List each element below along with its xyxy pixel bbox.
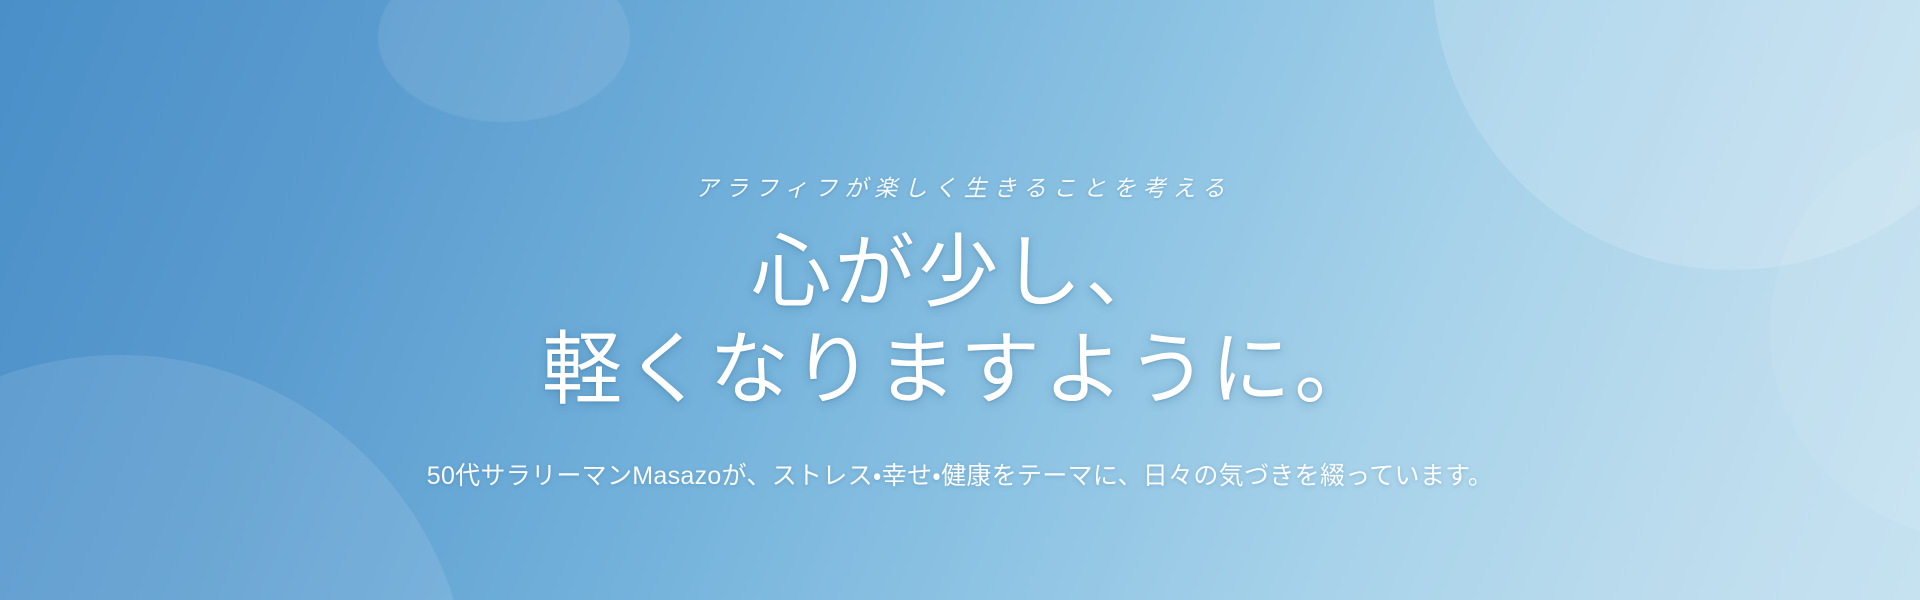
- hero-content: アラフィフが楽しく生きることを考える 心が少し、 軽くなりますように。 50代サ…: [0, 0, 1920, 600]
- hero-banner: アラフィフが楽しく生きることを考える 心が少し、 軽くなりますように。 50代サ…: [0, 0, 1920, 600]
- page-title-line-1: 心が少し、: [542, 226, 1378, 324]
- hero-subtitle: 50代サラリーマンMasazoが、ストレス・幸せ・健康をテーマに、日々の気づきを…: [427, 458, 1493, 496]
- page-title-line-2: 軽くなりますように。: [542, 323, 1378, 421]
- page-title: 心が少し、 軽くなりますように。: [542, 226, 1378, 421]
- hero-tagline: アラフィフが楽しく生きることを考える: [688, 175, 1231, 204]
